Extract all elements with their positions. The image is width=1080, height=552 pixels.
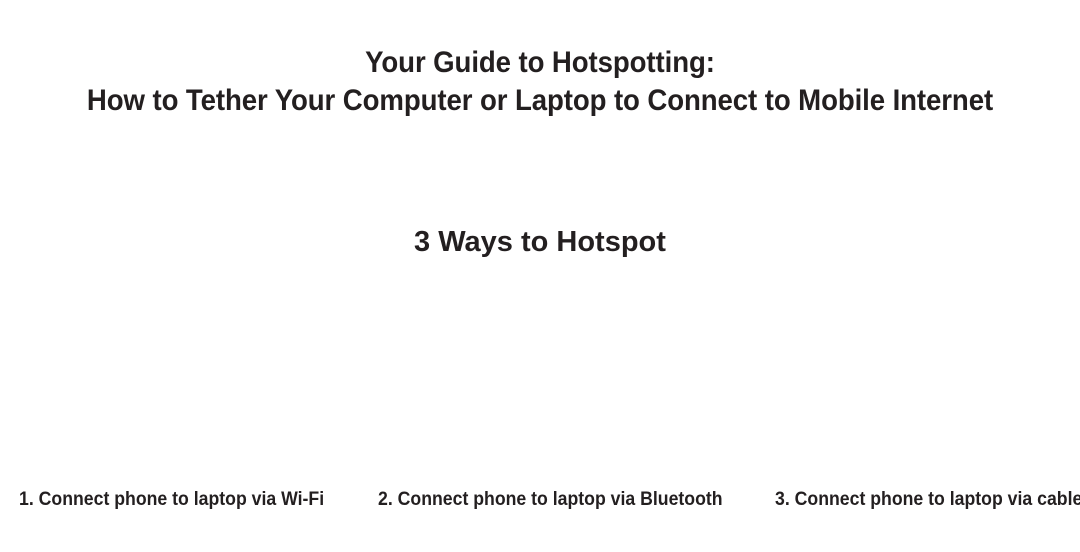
illustration-row	[0, 285, 1080, 475]
section-heading: 3 Ways to Hotspot	[0, 224, 1080, 260]
method-caption-cable: 3. Connect phone to laptop via cable	[775, 488, 1059, 512]
method-item-1: 1. Connect phone to laptop via Wi-Fi	[0, 488, 360, 512]
method-caption-wifi: 1. Connect phone to laptop via Wi-Fi	[19, 488, 336, 512]
illustration-cable	[740, 285, 1080, 475]
method-item-2: 2. Connect phone to laptop via Bluetooth	[360, 488, 720, 512]
page-title: Your Guide to Hotspotting: How to Tether…	[0, 44, 1080, 120]
illustration-wifi	[0, 285, 340, 475]
caption-row: 1. Connect phone to laptop via Wi-Fi 2. …	[0, 488, 1080, 512]
method-caption-bluetooth: 2. Connect phone to laptop via Bluetooth	[378, 488, 696, 512]
title-line-1: Your Guide to Hotspotting:	[43, 44, 1037, 82]
illustration-bluetooth	[370, 285, 710, 475]
infographic-page: Your Guide to Hotspotting: How to Tether…	[0, 0, 1080, 552]
title-line-2: How to Tether Your Computer or Laptop to…	[43, 82, 1037, 120]
method-item-3: 3. Connect phone to laptop via cable	[720, 488, 1080, 512]
